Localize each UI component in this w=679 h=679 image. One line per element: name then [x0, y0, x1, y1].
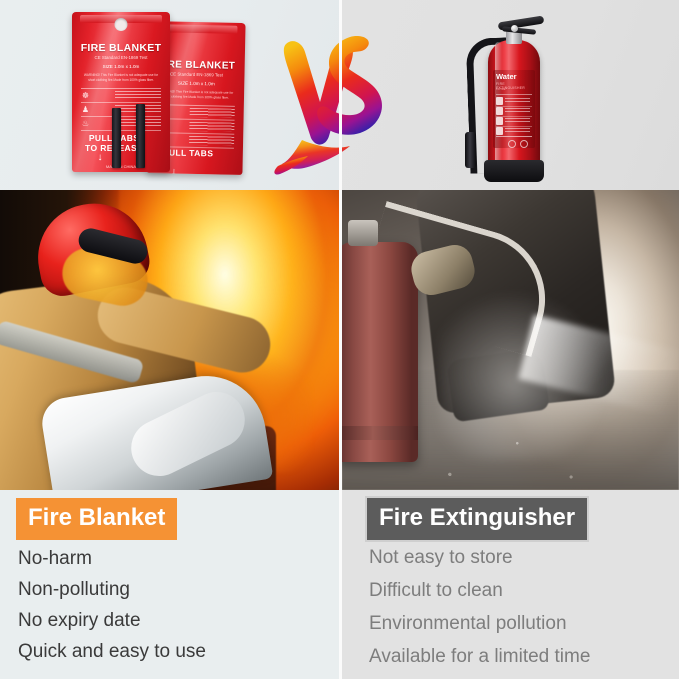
firefighter-using-fire-blanket-photo	[0, 190, 339, 490]
list-item: Available for a limited time	[369, 640, 590, 673]
pictogram-icon	[496, 127, 503, 135]
pictogram-text	[505, 98, 530, 104]
extinguisher-base	[484, 160, 544, 182]
approval-mark-icon	[520, 140, 528, 148]
extinguisher-safety-pin-icon	[511, 25, 518, 32]
pictogram-text	[505, 128, 530, 134]
extinguisher-nozzle	[465, 132, 476, 168]
list-item: Non-polluting	[18, 574, 206, 605]
list-item: Environmental pollution	[369, 607, 590, 640]
comparison-infographic: FIRE BLANKET CE Standard EN-1869 Test SI…	[0, 0, 679, 679]
panel-right-heading: Fire Extinguisher	[367, 498, 587, 540]
certification-mark-icon	[508, 140, 516, 148]
pictogram-text	[505, 118, 530, 124]
vs-badge	[272, 28, 390, 178]
pictogram-icon	[496, 97, 503, 105]
pull-tab-strap-left	[112, 108, 121, 168]
extinguisher-label-footer	[496, 136, 532, 147]
fire-blanket-feature-list: No-harm Non-polluting No expiry date Qui…	[18, 543, 206, 667]
list-item: No-harm	[18, 543, 206, 574]
list-item: Not easy to store	[369, 541, 590, 574]
list-item: Difficult to clean	[369, 574, 590, 607]
fire-blanket-pouch-front: FIRE BLANKET CE Standard EN-1869 Test SI…	[72, 12, 170, 172]
pictogram-icon	[496, 117, 503, 125]
pictogram-icon	[496, 107, 503, 115]
pouch-sheen-front	[72, 12, 170, 172]
list-item: No expiry date	[18, 605, 206, 636]
panel-left-heading: Fire Blanket	[16, 498, 177, 540]
extinguisher-label-capacity: 6 LITRE	[496, 88, 506, 91]
list-item: Quick and easy to use	[18, 636, 206, 667]
cylinder-base-band	[342, 426, 418, 440]
person-using-fire-extinguisher-photo	[342, 190, 679, 490]
pictogram-text	[505, 108, 530, 114]
extinguisher-label: Water FIRE EXTINGUISHER 6 LITRE	[493, 70, 535, 148]
smoke-cloud	[438, 290, 608, 460]
fire-extinguisher-feature-list: Not easy to store Difficult to clean Env…	[369, 541, 590, 673]
panel-divider	[339, 0, 342, 679]
pull-tab-strap-right	[136, 104, 145, 168]
extinguisher-label-title: Water	[496, 72, 517, 81]
cylinder-valve	[348, 220, 378, 246]
water-fire-extinguisher: Water FIRE EXTINGUISHER 6 LITRE	[462, 8, 568, 184]
